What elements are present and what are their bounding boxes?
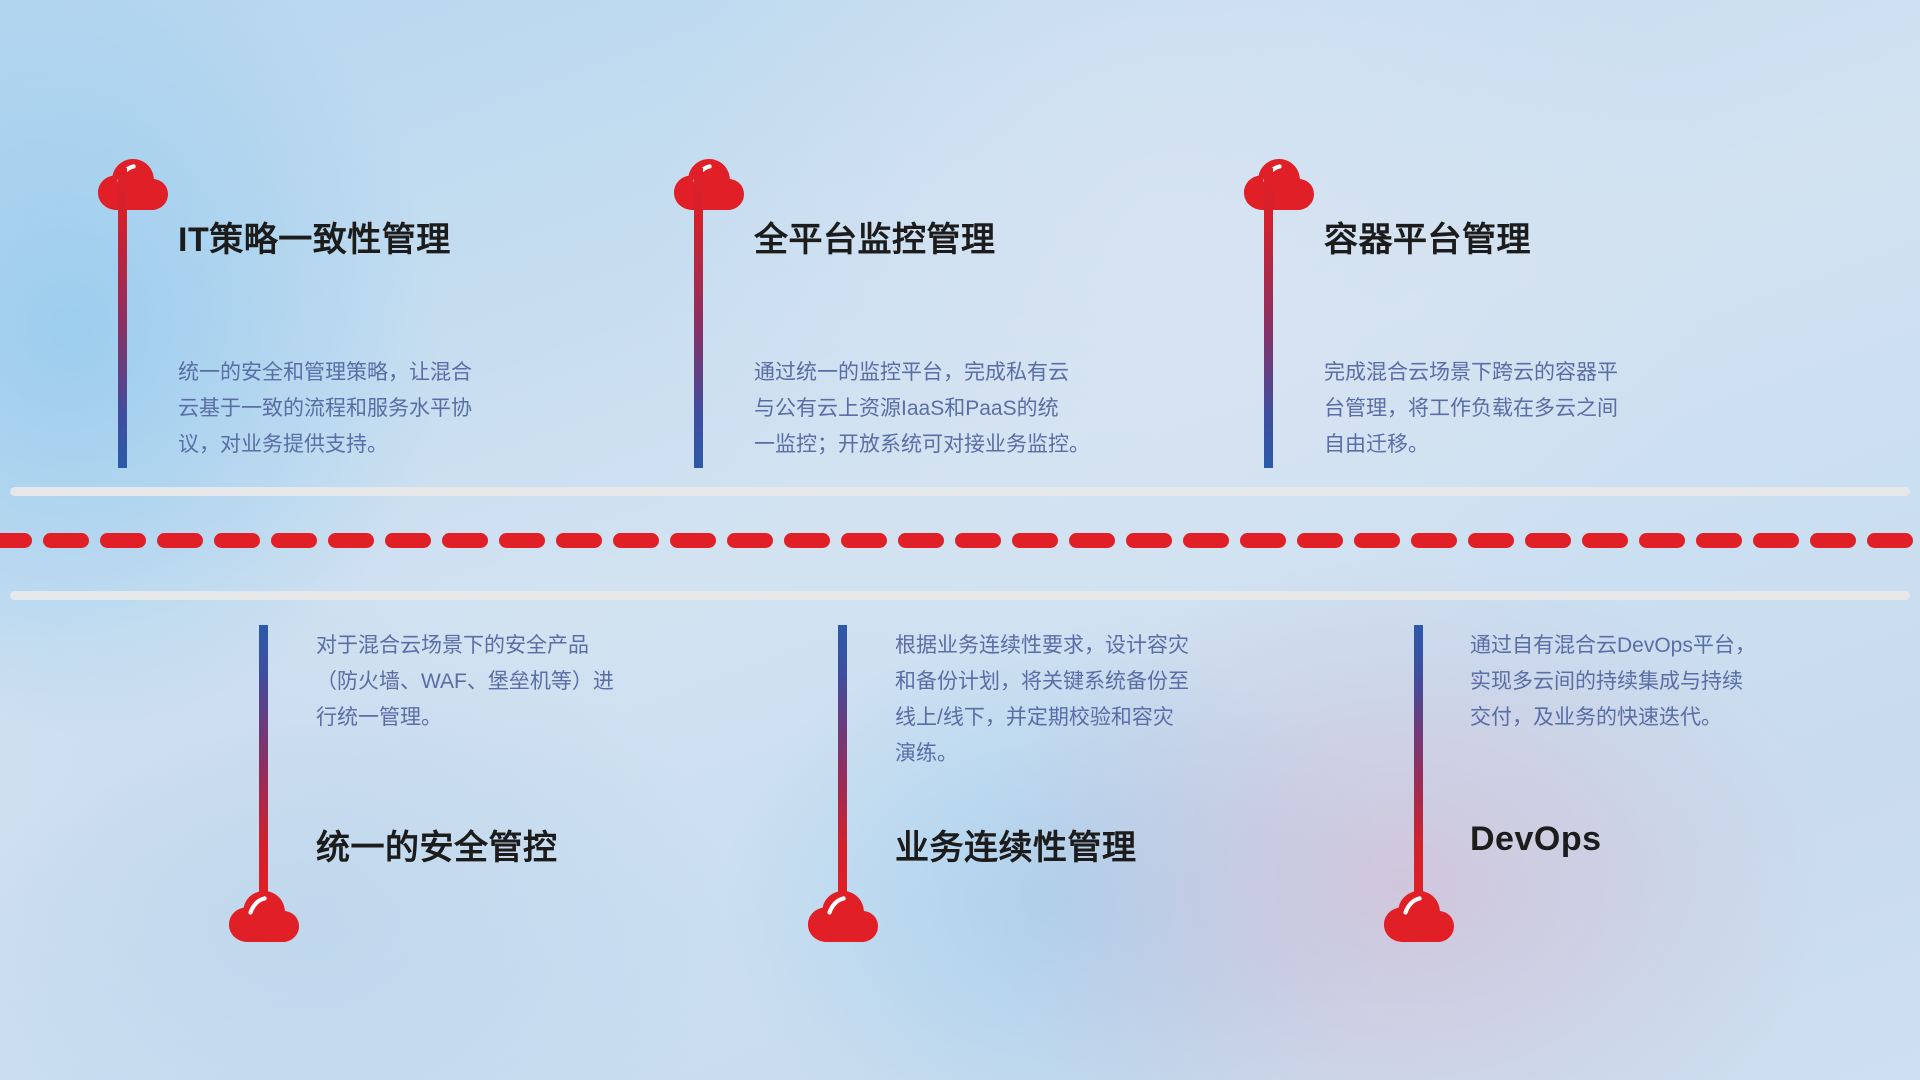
timeline-dash [784,533,830,548]
timeline-dash [499,533,545,548]
timeline-dash [1468,533,1514,548]
timeline-dash [613,533,659,548]
timeline-dash [898,533,944,548]
card-title: 容器平台管理 [1324,212,1531,261]
timeline-dash [1525,533,1571,548]
card-description: 完成混合云场景下跨云的容器平 台管理，将工作负载在多云之间 自由迁移。 [1324,355,1774,463]
connector-line [694,168,703,468]
timeline-dash [1354,533,1400,548]
cloud-icon [673,158,745,212]
cloud-icon [807,890,879,944]
connector-line [118,168,127,468]
timeline-dash [385,533,431,548]
timeline-dash [1069,533,1115,548]
timeline-dash [157,533,203,548]
card-description: 对于混合云场景下的安全产品 （防火墙、WAF、堡垒机等）进 行统一管理。 [316,628,746,736]
timeline-dash [670,533,716,548]
cloud-icon [1383,890,1455,944]
connector-line [1264,168,1273,468]
connector-line [1414,625,1423,893]
connector-line [838,625,847,893]
timeline-dash [328,533,374,548]
connector-line [259,625,268,893]
timeline-dash [1411,533,1457,548]
timeline-dash [556,533,602,548]
timeline-dash [1240,533,1286,548]
timeline-dash [1810,533,1856,548]
timeline-dash [1696,533,1742,548]
timeline-dash [1639,533,1685,548]
timeline-dash [0,533,32,548]
cloud-icon [1243,158,1315,212]
card-description: 通过自有混合云DevOps平台， 实现多云间的持续集成与持续 交付，及业务的快速… [1470,628,1900,736]
card-description: 统一的安全和管理策略，让混合 云基于一致的流程和服务水平协 议，对业务提供支持。 [178,355,598,463]
card-description: 根据业务连续性要求，设计容灾 和备份计划，将关键系统备份至 线上/线下，并定期校… [895,628,1325,772]
timeline-dash [727,533,773,548]
timeline-dash [1582,533,1628,548]
timeline-dash [841,533,887,548]
card-title: 统一的安全管控 [316,820,558,869]
timeline-dash [1753,533,1799,548]
timeline-dash [1867,533,1913,548]
timeline-dash [100,533,146,548]
cloud-icon [228,890,300,944]
cloud-icon [97,158,169,212]
card-title: IT策略一致性管理 [178,212,451,261]
divider-rail-top [10,487,1910,496]
divider-rail-bottom [10,591,1910,600]
timeline-dash [1126,533,1172,548]
timeline-dash [43,533,89,548]
card-description: 通过统一的监控平台，完成私有云 与公有云上资源IaaS和PaaS的统 一监控；开… [754,355,1224,463]
card-title: DevOps [1470,820,1602,859]
timeline-dash [1183,533,1229,548]
dashed-timeline [0,533,1920,548]
timeline-dash [271,533,317,548]
timeline-dash [214,533,260,548]
timeline-dash [442,533,488,548]
timeline-dash [1297,533,1343,548]
infographic-canvas: IT策略一致性管理 统一的安全和管理策略，让混合 云基于一致的流程和服务水平协 … [0,0,1920,1080]
card-title: 全平台监控管理 [754,212,996,261]
timeline-dash [955,533,1001,548]
card-title: 业务连续性管理 [895,820,1137,869]
timeline-dash [1012,533,1058,548]
